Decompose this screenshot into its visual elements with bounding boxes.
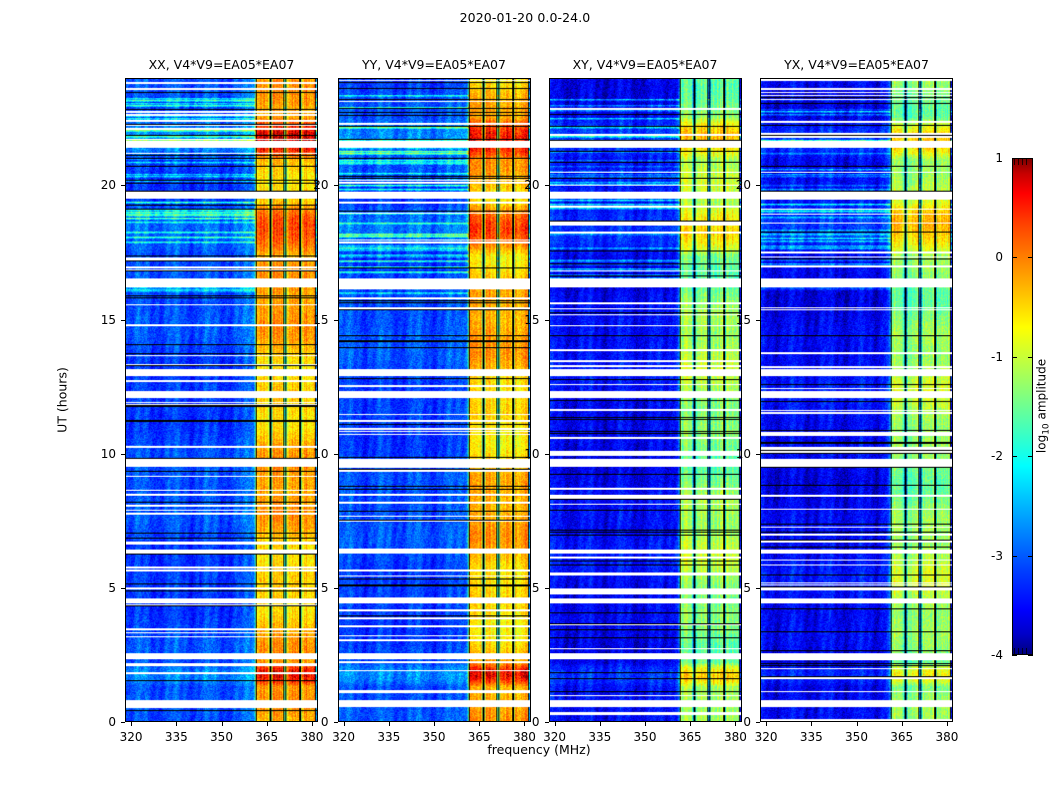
x-tick <box>131 722 132 726</box>
y-tick-label: 5 <box>108 581 116 595</box>
y-tick-label: 10 <box>101 447 116 461</box>
waterfall-panel-yx[interactable]: YX, V4*V9=EA05*EA07320335350365380051015… <box>760 78 953 722</box>
colorbar-top-hatch <box>1026 159 1027 165</box>
y-tick <box>545 722 549 723</box>
axes-frame <box>760 78 953 722</box>
waterfall-image <box>126 79 317 721</box>
y-tick-label: 0 <box>321 715 329 729</box>
colorbar-bottom-hatch <box>1014 648 1015 654</box>
y-tick <box>545 185 549 186</box>
y-tick-label: 0 <box>532 715 540 729</box>
x-tick <box>811 722 812 726</box>
y-tick <box>334 185 338 186</box>
colorbar-tick <box>1012 456 1017 457</box>
y-tick-label: 20 <box>313 178 328 192</box>
y-tick-label: 20 <box>101 178 116 192</box>
colorbar[interactable]: 10-1-2-3-4 <box>1012 158 1033 655</box>
axes-frame <box>338 78 531 722</box>
waterfall-panel-yy[interactable]: YY, V4*V9=EA05*EA07320335350365380051015… <box>338 78 531 722</box>
colorbar-tick <box>1012 655 1017 656</box>
colorbar-tick <box>1028 556 1033 557</box>
x-tick <box>555 722 556 726</box>
x-tick <box>267 722 268 726</box>
y-tick <box>545 588 549 589</box>
x-tick <box>222 722 223 726</box>
x-tick <box>690 722 691 726</box>
y-tick <box>756 185 760 186</box>
y-tick <box>121 320 125 321</box>
colorbar-tick-label: -1 <box>991 350 1003 364</box>
y-tick <box>121 185 125 186</box>
x-axis-label: frequency (MHz) <box>125 742 953 757</box>
x-tick <box>902 722 903 726</box>
y-tick-label: 10 <box>313 447 328 461</box>
colorbar-top-hatch <box>1018 159 1019 165</box>
y-tick-label: 15 <box>101 313 116 327</box>
x-tick <box>766 722 767 726</box>
figure-title: 2020-01-20 0.0-24.0 <box>0 10 1050 25</box>
colorbar-tick <box>1028 257 1033 258</box>
x-tick <box>600 722 601 726</box>
y-tick <box>121 722 125 723</box>
y-tick-label: 10 <box>524 447 539 461</box>
colorbar-label: log10 amplitude <box>1034 359 1050 453</box>
y-tick-label: 15 <box>524 313 539 327</box>
y-tick <box>756 320 760 321</box>
y-tick <box>756 454 760 455</box>
y-tick-label: 20 <box>736 178 751 192</box>
x-tick <box>434 722 435 726</box>
waterfall-panel-xx[interactable]: XX, V4*V9=EA05*EA07320335350365380051015… <box>125 78 318 722</box>
y-tick-label: 5 <box>743 581 751 595</box>
y-tick-label: 0 <box>743 715 751 729</box>
y-tick <box>334 320 338 321</box>
y-tick <box>756 722 760 723</box>
x-tick <box>645 722 646 726</box>
colorbar-bottom-hatch <box>1026 648 1027 654</box>
y-tick <box>121 588 125 589</box>
colorbar-bottom-hatch <box>1022 648 1023 654</box>
y-axis-label: UT (hours) <box>55 367 70 433</box>
x-tick <box>857 722 858 726</box>
colorbar-label-subscript: 10 <box>1042 423 1050 434</box>
y-tick-label: 5 <box>532 581 540 595</box>
colorbar-tick-label: -3 <box>991 549 1003 563</box>
colorbar-tick-label: -4 <box>991 648 1003 662</box>
colorbar-top-hatch <box>1022 159 1023 165</box>
y-tick <box>545 454 549 455</box>
colorbar-label-tail: amplitude <box>1034 359 1048 423</box>
x-tick <box>389 722 390 726</box>
y-tick-label: 5 <box>321 581 329 595</box>
y-tick <box>121 454 125 455</box>
y-tick <box>756 588 760 589</box>
colorbar-tick <box>1028 456 1033 457</box>
y-tick <box>334 722 338 723</box>
x-tick <box>344 722 345 726</box>
x-tick <box>312 722 313 726</box>
colorbar-tick <box>1028 357 1033 358</box>
waterfall-image <box>761 79 952 721</box>
axes-frame <box>125 78 318 722</box>
waterfall-panel-xy[interactable]: XY, V4*V9=EA05*EA07320335350365380051015… <box>549 78 742 722</box>
colorbar-top-hatch <box>1014 159 1015 165</box>
colorbar-tick-label: 0 <box>995 250 1003 264</box>
y-tick <box>545 320 549 321</box>
y-tick <box>334 454 338 455</box>
y-tick-label: 0 <box>108 715 116 729</box>
waterfall-image <box>550 79 741 721</box>
y-tick-label: 15 <box>313 313 328 327</box>
colorbar-tick <box>1012 556 1017 557</box>
y-tick-label: 20 <box>524 178 539 192</box>
y-tick <box>334 588 338 589</box>
waterfall-image <box>339 79 530 721</box>
x-tick <box>735 722 736 726</box>
axes-frame <box>549 78 742 722</box>
colorbar-tick-label: -2 <box>991 449 1003 463</box>
panel-title-yx: YX, V4*V9=EA05*EA07 <box>720 57 993 72</box>
colorbar-label-text: log <box>1034 435 1048 453</box>
matplotlib-figure: 2020-01-20 0.0-24.0 XX, V4*V9=EA05*EA073… <box>0 0 1050 800</box>
y-tick-label: 10 <box>736 447 751 461</box>
colorbar-tick <box>1028 655 1033 656</box>
colorbar-tick <box>1012 357 1017 358</box>
x-tick <box>524 722 525 726</box>
colorbar-tick <box>1028 158 1033 159</box>
colorbar-gradient <box>1012 158 1033 655</box>
x-tick <box>479 722 480 726</box>
x-tick <box>947 722 948 726</box>
colorbar-tick <box>1012 257 1017 258</box>
colorbar-bottom-hatch <box>1018 648 1019 654</box>
y-tick-label: 15 <box>736 313 751 327</box>
colorbar-tick-label: 1 <box>995 151 1003 165</box>
x-tick <box>176 722 177 726</box>
